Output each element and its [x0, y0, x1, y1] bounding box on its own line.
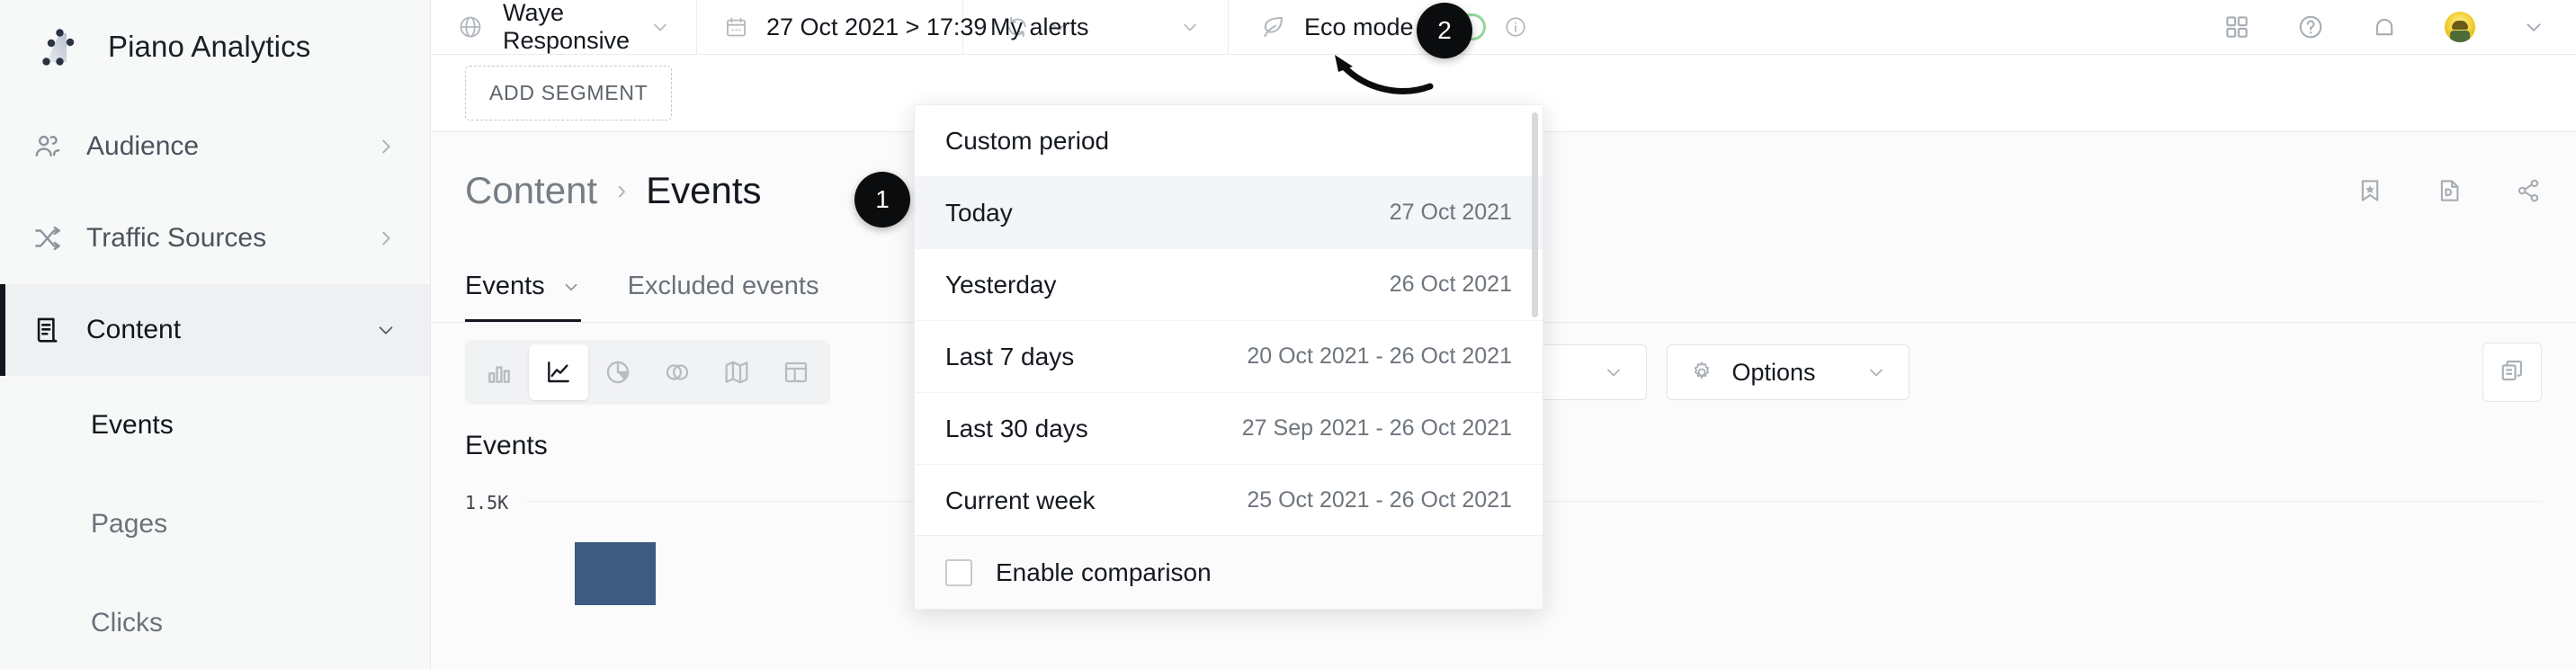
help-icon[interactable] — [2297, 13, 2324, 40]
sidebar-item-traffic-sources[interactable]: Traffic Sources — [0, 192, 430, 284]
piano-analytics-logo-icon — [41, 28, 85, 66]
topbar-spacer — [1551, 0, 2223, 54]
date-option-value: 25 Oct 2021 - 26 Oct 2021 — [1247, 487, 1512, 513]
chevron-down-icon — [376, 320, 396, 340]
topbar-icon-group — [2223, 0, 2576, 54]
tab-label: Events — [465, 272, 545, 301]
options-button[interactable]: Options — [1667, 344, 1910, 400]
date-option-label: Today — [945, 199, 1390, 227]
table-chart-icon[interactable] — [766, 344, 826, 400]
chevron-down-icon — [1603, 361, 1624, 383]
date-range-dropdown: Custom period Today 27 Oct 2021 Yesterda… — [914, 104, 1543, 610]
site-name: Waye Responsive — [503, 0, 630, 55]
content-icon — [22, 315, 74, 345]
sidebar-item-content[interactable]: Content — [0, 284, 430, 376]
chevron-down-icon — [649, 16, 671, 38]
options-button-label: Options — [1732, 359, 1847, 387]
globe-icon — [458, 14, 483, 40]
dropdown-scrollbar[interactable] — [1532, 112, 1538, 317]
date-option-label: Current week — [945, 486, 1247, 515]
sidebar-subitem-label: Clicks — [91, 608, 163, 638]
annotation-badge-1: 1 — [854, 172, 910, 227]
page-action-group — [2357, 177, 2542, 204]
date-range-list: Custom period Today 27 Oct 2021 Yesterda… — [915, 105, 1543, 537]
alerts-label: My alerts — [990, 13, 1179, 41]
tab-events[interactable]: Events — [465, 272, 581, 322]
enable-comparison-label: Enable comparison — [996, 558, 1212, 587]
date-option-label: Custom period — [945, 127, 1512, 156]
duplicate-button[interactable] — [2482, 343, 2542, 402]
alerts-selector[interactable]: My alerts — [963, 0, 1229, 54]
sidebar-subitem-clicks[interactable]: Clicks — [0, 574, 430, 669]
info-icon[interactable] — [1504, 15, 1527, 39]
enable-comparison-row[interactable]: Enable comparison — [915, 535, 1543, 609]
sidebar-subitem-pages[interactable]: Pages — [0, 475, 430, 574]
date-option-value: 27 Sep 2021 - 26 Oct 2021 — [1242, 415, 1512, 442]
chevron-down-icon — [1179, 16, 1201, 38]
date-option-label: Yesterday — [945, 271, 1390, 299]
date-option-custom-period[interactable]: Custom period — [915, 105, 1543, 177]
sidebar-subitem-label: Events — [91, 410, 174, 441]
site-selector[interactable]: Waye Responsive — [431, 0, 697, 54]
sidebar-item-label: Audience — [74, 131, 376, 162]
audience-icon — [22, 131, 74, 162]
date-option-label: Last 30 days — [945, 415, 1242, 443]
sidebar-item-label: Traffic Sources — [74, 223, 376, 254]
pie-chart-icon[interactable] — [588, 344, 648, 400]
line-chart-icon[interactable] — [529, 344, 588, 400]
enable-comparison-checkbox[interactable] — [945, 559, 972, 586]
brand-name: Piano Analytics — [108, 30, 310, 64]
tab-excluded-events[interactable]: Excluded events — [628, 272, 819, 322]
date-option-last-7-days[interactable]: Last 7 days 20 Oct 2021 - 26 Oct 2021 — [915, 321, 1543, 393]
top-bar: Waye Responsive 27 Oct 2021 > 17:39 — [431, 0, 2576, 55]
traffic-sources-icon — [22, 223, 74, 254]
venn-chart-icon[interactable] — [648, 344, 707, 400]
page-title: Events — [646, 169, 761, 212]
sidebar-item-audience[interactable]: Audience — [0, 101, 430, 192]
sidebar: Piano Analytics Audience — [0, 0, 431, 669]
date-option-value: 20 Oct 2021 - 26 Oct 2021 — [1247, 343, 1512, 370]
chart-bar[interactable] — [575, 542, 656, 605]
y-axis-tick: 1.5K — [465, 492, 508, 513]
date-option-today[interactable]: Today 27 Oct 2021 — [915, 177, 1543, 249]
breadcrumb-separator: › — [617, 175, 626, 206]
bar-chart-icon[interactable] — [470, 344, 529, 400]
sidebar-subitem-events[interactable]: Events — [0, 376, 430, 475]
user-avatar[interactable] — [2445, 12, 2475, 42]
date-option-yesterday[interactable]: Yesterday 26 Oct 2021 — [915, 249, 1543, 321]
date-range-selector[interactable]: 27 Oct 2021 > 17:39 — [697, 0, 963, 54]
export-document-icon[interactable] — [2436, 177, 2463, 204]
brand[interactable]: Piano Analytics — [0, 0, 430, 94]
date-option-current-week[interactable]: Current week 25 Oct 2021 - 26 Oct 2021 — [915, 465, 1543, 537]
share-icon[interactable] — [2515, 177, 2542, 204]
date-range-label: 27 Oct 2021 > 17:39 — [766, 13, 987, 41]
sidebar-subitem-label: Pages — [91, 509, 167, 540]
date-option-value: 27 Oct 2021 — [1390, 200, 1512, 226]
add-segment-button[interactable]: ADD SEGMENT — [465, 66, 672, 120]
map-chart-icon[interactable] — [707, 344, 766, 400]
chart-type-group — [465, 340, 830, 405]
calendar-icon — [724, 15, 748, 40]
gear-icon — [1689, 360, 1714, 385]
chevron-right-icon — [376, 137, 396, 156]
chevron-down-icon — [1865, 361, 1887, 383]
leaf-icon — [1259, 13, 1286, 40]
duplicate-icon — [2499, 357, 2526, 388]
tab-label: Excluded events — [628, 272, 819, 301]
annotation-badge-2: 2 — [1417, 3, 1472, 58]
chevron-down-icon[interactable] — [2522, 15, 2545, 39]
date-option-value: 26 Oct 2021 — [1390, 272, 1512, 298]
bookmark-star-icon[interactable] — [2357, 177, 2384, 204]
apps-grid-icon[interactable] — [2223, 13, 2250, 40]
chevron-right-icon — [376, 228, 396, 248]
bell-icon[interactable] — [2371, 13, 2398, 40]
breadcrumb-parent[interactable]: Content — [465, 169, 597, 212]
date-option-last-30-days[interactable]: Last 30 days 27 Sep 2021 - 26 Oct 2021 — [915, 393, 1543, 465]
chevron-down-icon — [561, 277, 581, 297]
app-root: Piano Analytics Audience — [0, 0, 2576, 669]
sidebar-item-label: Content — [74, 315, 376, 345]
date-option-label: Last 7 days — [945, 343, 1247, 371]
sidebar-nav: Audience Traffic Sources — [0, 101, 430, 669]
